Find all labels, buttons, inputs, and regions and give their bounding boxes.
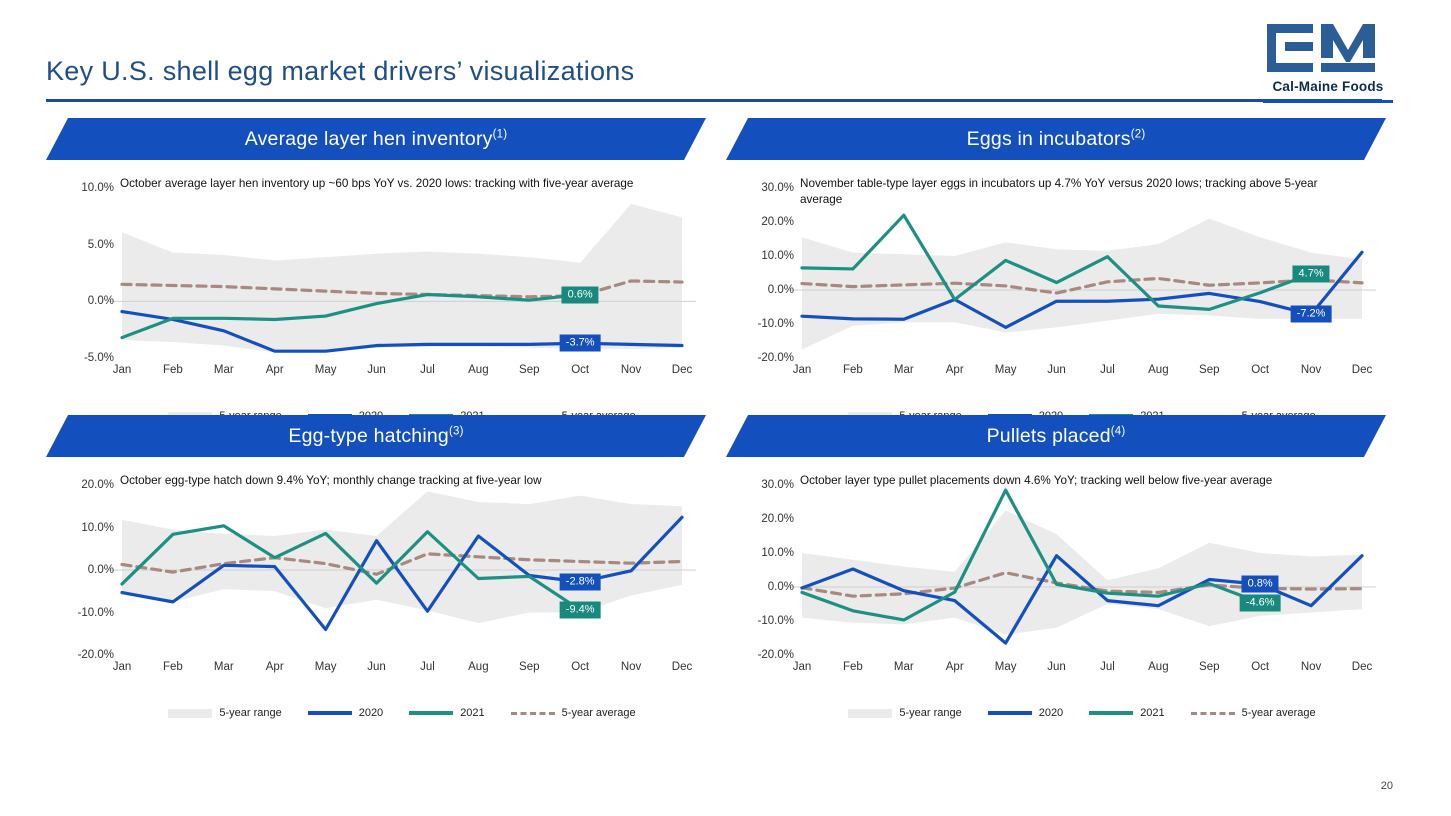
x-axis-tick-label: Sep	[519, 661, 539, 673]
y-axis-tick-label: -20.0%	[78, 649, 114, 661]
cm-monogram-icon	[1263, 18, 1393, 78]
panel-title: Pullets placed(4)	[987, 425, 1126, 448]
x-axis-tick-label: Aug	[1148, 661, 1168, 673]
panel-title: Egg-type hatching(3)	[288, 425, 463, 448]
x-axis-tick-label: Jan	[793, 661, 812, 673]
data-label-72: -7.2%	[1291, 306, 1332, 323]
panel-title-footnote: (3)	[449, 425, 464, 437]
x-axis-tick-label: Sep	[1199, 661, 1219, 673]
y-axis-tick-label: 10.0%	[761, 250, 794, 262]
y-axis-tick-label: -20.0%	[758, 649, 794, 661]
x-axis-tick-label: Oct	[571, 661, 589, 673]
x-axis-tick-label: Nov	[1301, 661, 1321, 673]
line-swatch-icon	[308, 711, 352, 715]
plot-area: 30.0%20.0%10.0%0.0%-10.0%-20.0%JanFebMar…	[802, 485, 1362, 655]
panel-title-text: Pullets placed	[987, 425, 1111, 447]
panel-title-footnote: (1)	[493, 128, 508, 140]
series-canvas	[802, 485, 1362, 655]
legend-item-range: 5-year range	[848, 707, 961, 719]
y-axis-tick-label: 0.0%	[88, 295, 114, 307]
x-axis-tick-label: May	[995, 661, 1017, 673]
page-title: Key U.S. shell egg market drivers’ visua…	[46, 56, 634, 87]
legend-item-2021: 2021	[1089, 707, 1164, 719]
x-axis-tick-label: Mar	[894, 661, 914, 673]
y-axis-tick-label: -10.0%	[758, 318, 794, 330]
line-swatch-icon	[1089, 711, 1133, 715]
legend-item-range: 5-year range	[168, 707, 281, 719]
panel-title: Average layer hen inventory(1)	[245, 128, 508, 151]
data-label-06: 0.6%	[562, 286, 599, 303]
x-axis-tick-label: Jun	[367, 364, 386, 376]
y-axis-tick-label: 20.0%	[761, 513, 794, 525]
x-axis-tick-label: Jan	[793, 364, 812, 376]
logo-wordmark: Cal-Maine Foods	[1263, 79, 1393, 94]
panel-eggs-in-incubators: Eggs in incubators(2) November table-typ…	[726, 118, 1386, 418]
line-swatch-icon	[988, 711, 1032, 715]
x-axis-tick-label: Jun	[1047, 661, 1066, 673]
chart-eggs-in-incubators: 30.0%20.0%10.0%0.0%-10.0%-20.0%JanFebMar…	[726, 166, 1386, 416]
x-axis-tick-label: Jun	[367, 661, 386, 673]
cal-maine-logo: Cal-Maine Foods	[1263, 18, 1393, 94]
panel-title-text: Egg-type hatching	[288, 425, 449, 447]
y-axis-tick-label: 0.0%	[88, 564, 114, 576]
chart-pullets-placed: 30.0%20.0%10.0%0.0%-10.0%-20.0%JanFebMar…	[726, 463, 1386, 713]
x-axis-tick-label: May	[995, 364, 1017, 376]
title-divider	[46, 99, 1382, 102]
y-axis-tick-label: 20.0%	[761, 216, 794, 228]
y-axis-tick-label: 20.0%	[81, 479, 114, 491]
y-axis-tick-label: -5.0%	[84, 352, 114, 364]
panel-average-layer-hen-inventory: Average layer hen inventory(1) October a…	[46, 118, 706, 418]
panel-title: Eggs in incubators(2)	[967, 128, 1146, 151]
x-axis-tick-label: Jul	[1100, 661, 1115, 673]
x-axis-tick-label: Apr	[266, 661, 284, 673]
y-axis-tick-label: 0.0%	[768, 581, 794, 593]
panel-banner: Pullets placed(4)	[726, 415, 1386, 457]
y-axis-tick-label: 10.0%	[761, 547, 794, 559]
dashed-swatch-icon	[1191, 712, 1235, 715]
x-axis-tick-label: Jul	[1100, 364, 1115, 376]
legend-label: 5-year range	[219, 707, 281, 719]
x-axis-tick-label: Dec	[1352, 364, 1372, 376]
panel-banner: Eggs in incubators(2)	[726, 118, 1386, 160]
x-axis-tick-label: Jul	[420, 661, 435, 673]
x-axis-tick-label: Oct	[571, 364, 589, 376]
x-axis-tick-label: Dec	[1352, 661, 1372, 673]
x-axis-tick-label: Mar	[894, 364, 914, 376]
range-swatch-icon	[848, 709, 892, 718]
panel-pullets-placed: Pullets placed(4) October layer type pul…	[726, 415, 1386, 715]
legend-item-2020: 2020	[308, 707, 383, 719]
x-axis-tick-label: Jun	[1047, 364, 1066, 376]
x-axis-tick-label: Jul	[420, 364, 435, 376]
x-axis-tick-label: Sep	[519, 364, 539, 376]
panel-banner: Egg-type hatching(3)	[46, 415, 706, 457]
x-axis-tick-label: Jan	[113, 364, 132, 376]
data-label-94: -9.4%	[560, 601, 601, 618]
chart-egg-type-hatching: 20.0%10.0%0.0%-10.0%-20.0%JanFebMarAprMa…	[46, 463, 706, 713]
x-axis-tick-label: Feb	[163, 364, 183, 376]
x-axis-tick-label: Mar	[214, 364, 234, 376]
chart-legend: 5-year range 2020 2021 5-year average	[122, 707, 682, 719]
x-axis-tick-label: Nov	[621, 364, 641, 376]
panel-title-text: Eggs in incubators	[967, 128, 1131, 150]
page-number: 20	[1381, 780, 1393, 792]
legend-label: 2021	[1140, 707, 1164, 719]
x-axis-tick-label: Oct	[1251, 661, 1269, 673]
chart-legend: 5-year range 2020 2021 5-year average	[802, 707, 1362, 719]
legend-label: 5-year range	[899, 707, 961, 719]
series-canvas	[122, 188, 682, 358]
x-axis-tick-label: Apr	[946, 661, 964, 673]
x-axis-tick-label: Sep	[1199, 364, 1219, 376]
series-canvas	[802, 188, 1362, 358]
x-axis-tick-label: Aug	[1148, 364, 1168, 376]
x-axis-tick-label: Aug	[468, 364, 488, 376]
y-axis-tick-label: 0.0%	[768, 284, 794, 296]
panel-title-footnote: (2)	[1131, 128, 1146, 140]
dashed-swatch-icon	[511, 712, 555, 715]
legend-label: 2020	[359, 707, 383, 719]
legend-label: 2020	[1039, 707, 1063, 719]
plot-area: 10.0%5.0%0.0%-5.0%JanFebMarAprMayJunJulA…	[122, 188, 682, 358]
x-axis-tick-label: Feb	[843, 364, 863, 376]
data-label-08: 0.8%	[1242, 576, 1279, 593]
y-axis-tick-label: -20.0%	[758, 352, 794, 364]
x-axis-tick-label: Oct	[1251, 364, 1269, 376]
legend-item-average: 5-year average	[1191, 707, 1316, 719]
y-axis-tick-label: -10.0%	[78, 607, 114, 619]
data-label-37: -3.7%	[560, 335, 601, 352]
x-axis-tick-label: May	[315, 661, 337, 673]
plot-area: 20.0%10.0%0.0%-10.0%-20.0%JanFebMarAprMa…	[122, 485, 682, 655]
y-axis-tick-label: 10.0%	[81, 522, 114, 534]
legend-item-2020: 2020	[988, 707, 1063, 719]
legend-item-average: 5-year average	[511, 707, 636, 719]
panel-banner: Average layer hen inventory(1)	[46, 118, 706, 160]
y-axis-tick-label: 30.0%	[761, 479, 794, 491]
y-axis-tick-label: -10.0%	[758, 615, 794, 627]
x-axis-tick-label: Dec	[672, 364, 692, 376]
x-axis-tick-label: May	[315, 364, 337, 376]
y-axis-tick-label: 10.0%	[81, 182, 114, 194]
x-axis-tick-label: Nov	[1301, 364, 1321, 376]
data-label-28: -2.8%	[560, 573, 601, 590]
line-swatch-icon	[409, 711, 453, 715]
panel-egg-type-hatching: Egg-type hatching(3) October egg-type ha…	[46, 415, 706, 715]
x-axis-tick-label: Apr	[946, 364, 964, 376]
x-axis-tick-label: Feb	[843, 661, 863, 673]
series-canvas	[122, 485, 682, 655]
data-label-46: -4.6%	[1240, 594, 1281, 611]
legend-label: 5-year average	[1242, 707, 1316, 719]
panel-title-text: Average layer hen inventory	[245, 128, 493, 150]
x-axis-tick-label: Mar	[214, 661, 234, 673]
legend-label: 2021	[460, 707, 484, 719]
x-axis-tick-label: Dec	[672, 661, 692, 673]
x-axis-tick-label: Nov	[621, 661, 641, 673]
x-axis-tick-label: Feb	[163, 661, 183, 673]
y-axis-tick-label: 5.0%	[88, 239, 114, 251]
logo-divider	[1263, 100, 1393, 103]
x-axis-tick-label: Jan	[113, 661, 132, 673]
range-swatch-icon	[168, 709, 212, 718]
chart-average-layer-hen-inventory: 10.0%5.0%0.0%-5.0%JanFebMarAprMayJunJulA…	[46, 166, 706, 416]
x-axis-tick-label: Aug	[468, 661, 488, 673]
legend-label: 5-year average	[562, 707, 636, 719]
five-year-range-band	[122, 204, 682, 352]
panel-title-footnote: (4)	[1111, 425, 1126, 437]
x-axis-tick-label: Apr	[266, 364, 284, 376]
legend-item-2021: 2021	[409, 707, 484, 719]
y-axis-tick-label: 30.0%	[761, 182, 794, 194]
plot-area: 30.0%20.0%10.0%0.0%-10.0%-20.0%JanFebMar…	[802, 188, 1362, 358]
data-label-47: 4.7%	[1293, 266, 1330, 283]
